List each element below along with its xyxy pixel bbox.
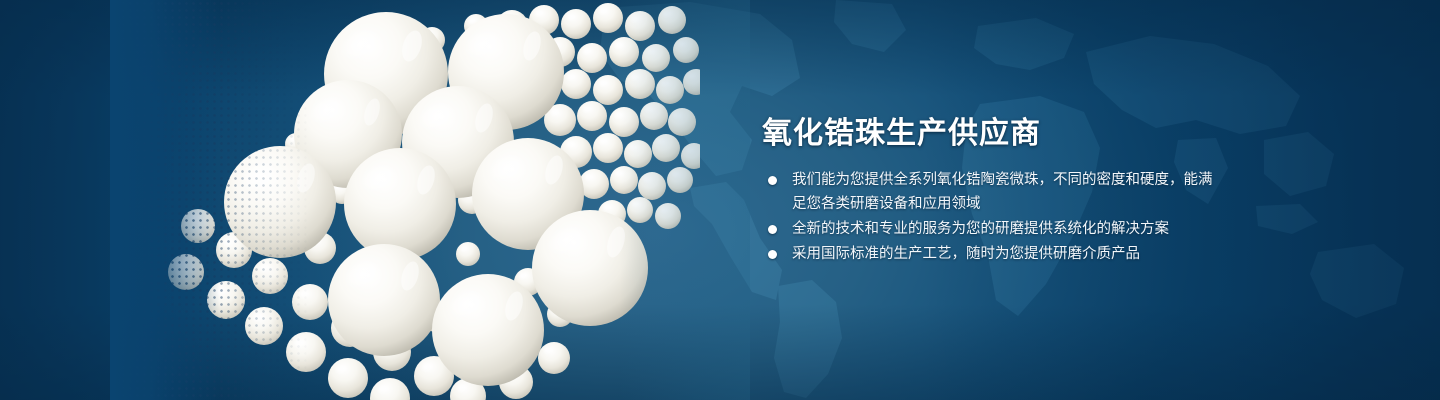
page-title: 氧化锆珠生产供应商 bbox=[762, 108, 1041, 152]
bullet-text: 我们能为您提供全系列氧化锆陶瓷微珠，不同的密度和硬度，能满足您各类研磨设备和应用… bbox=[792, 168, 1222, 216]
list-item: 全新的技术和专业的服务为您的研磨提供系统化的解决方案 bbox=[762, 217, 1222, 241]
zirconia-bead-photo bbox=[120, 0, 700, 400]
bullet-text: 采用国际标准的生产工艺，随时为您提供研磨介质产品 bbox=[792, 242, 1222, 266]
bullet-dot-icon bbox=[768, 225, 777, 234]
hero-banner: 氧化锆珠生产供应商 我们能为您提供全系列氧化锆陶瓷微珠，不同的密度和硬度，能满足… bbox=[0, 0, 1440, 400]
banner-copy: 氧化锆珠生产供应商 我们能为您提供全系列氧化锆陶瓷微珠，不同的密度和硬度，能满足… bbox=[762, 0, 1322, 400]
list-item: 我们能为您提供全系列氧化锆陶瓷微珠，不同的密度和硬度，能满足您各类研磨设备和应用… bbox=[762, 168, 1222, 216]
bullet-dot-icon bbox=[768, 250, 777, 259]
bullet-text: 全新的技术和专业的服务为您的研磨提供系统化的解决方案 bbox=[792, 217, 1222, 241]
feature-bullet-list: 我们能为您提供全系列氧化锆陶瓷微珠，不同的密度和硬度，能满足您各类研磨设备和应用… bbox=[762, 168, 1222, 267]
list-item: 采用国际标准的生产工艺，随时为您提供研磨介质产品 bbox=[762, 242, 1222, 266]
bullet-dot-icon bbox=[768, 176, 777, 185]
